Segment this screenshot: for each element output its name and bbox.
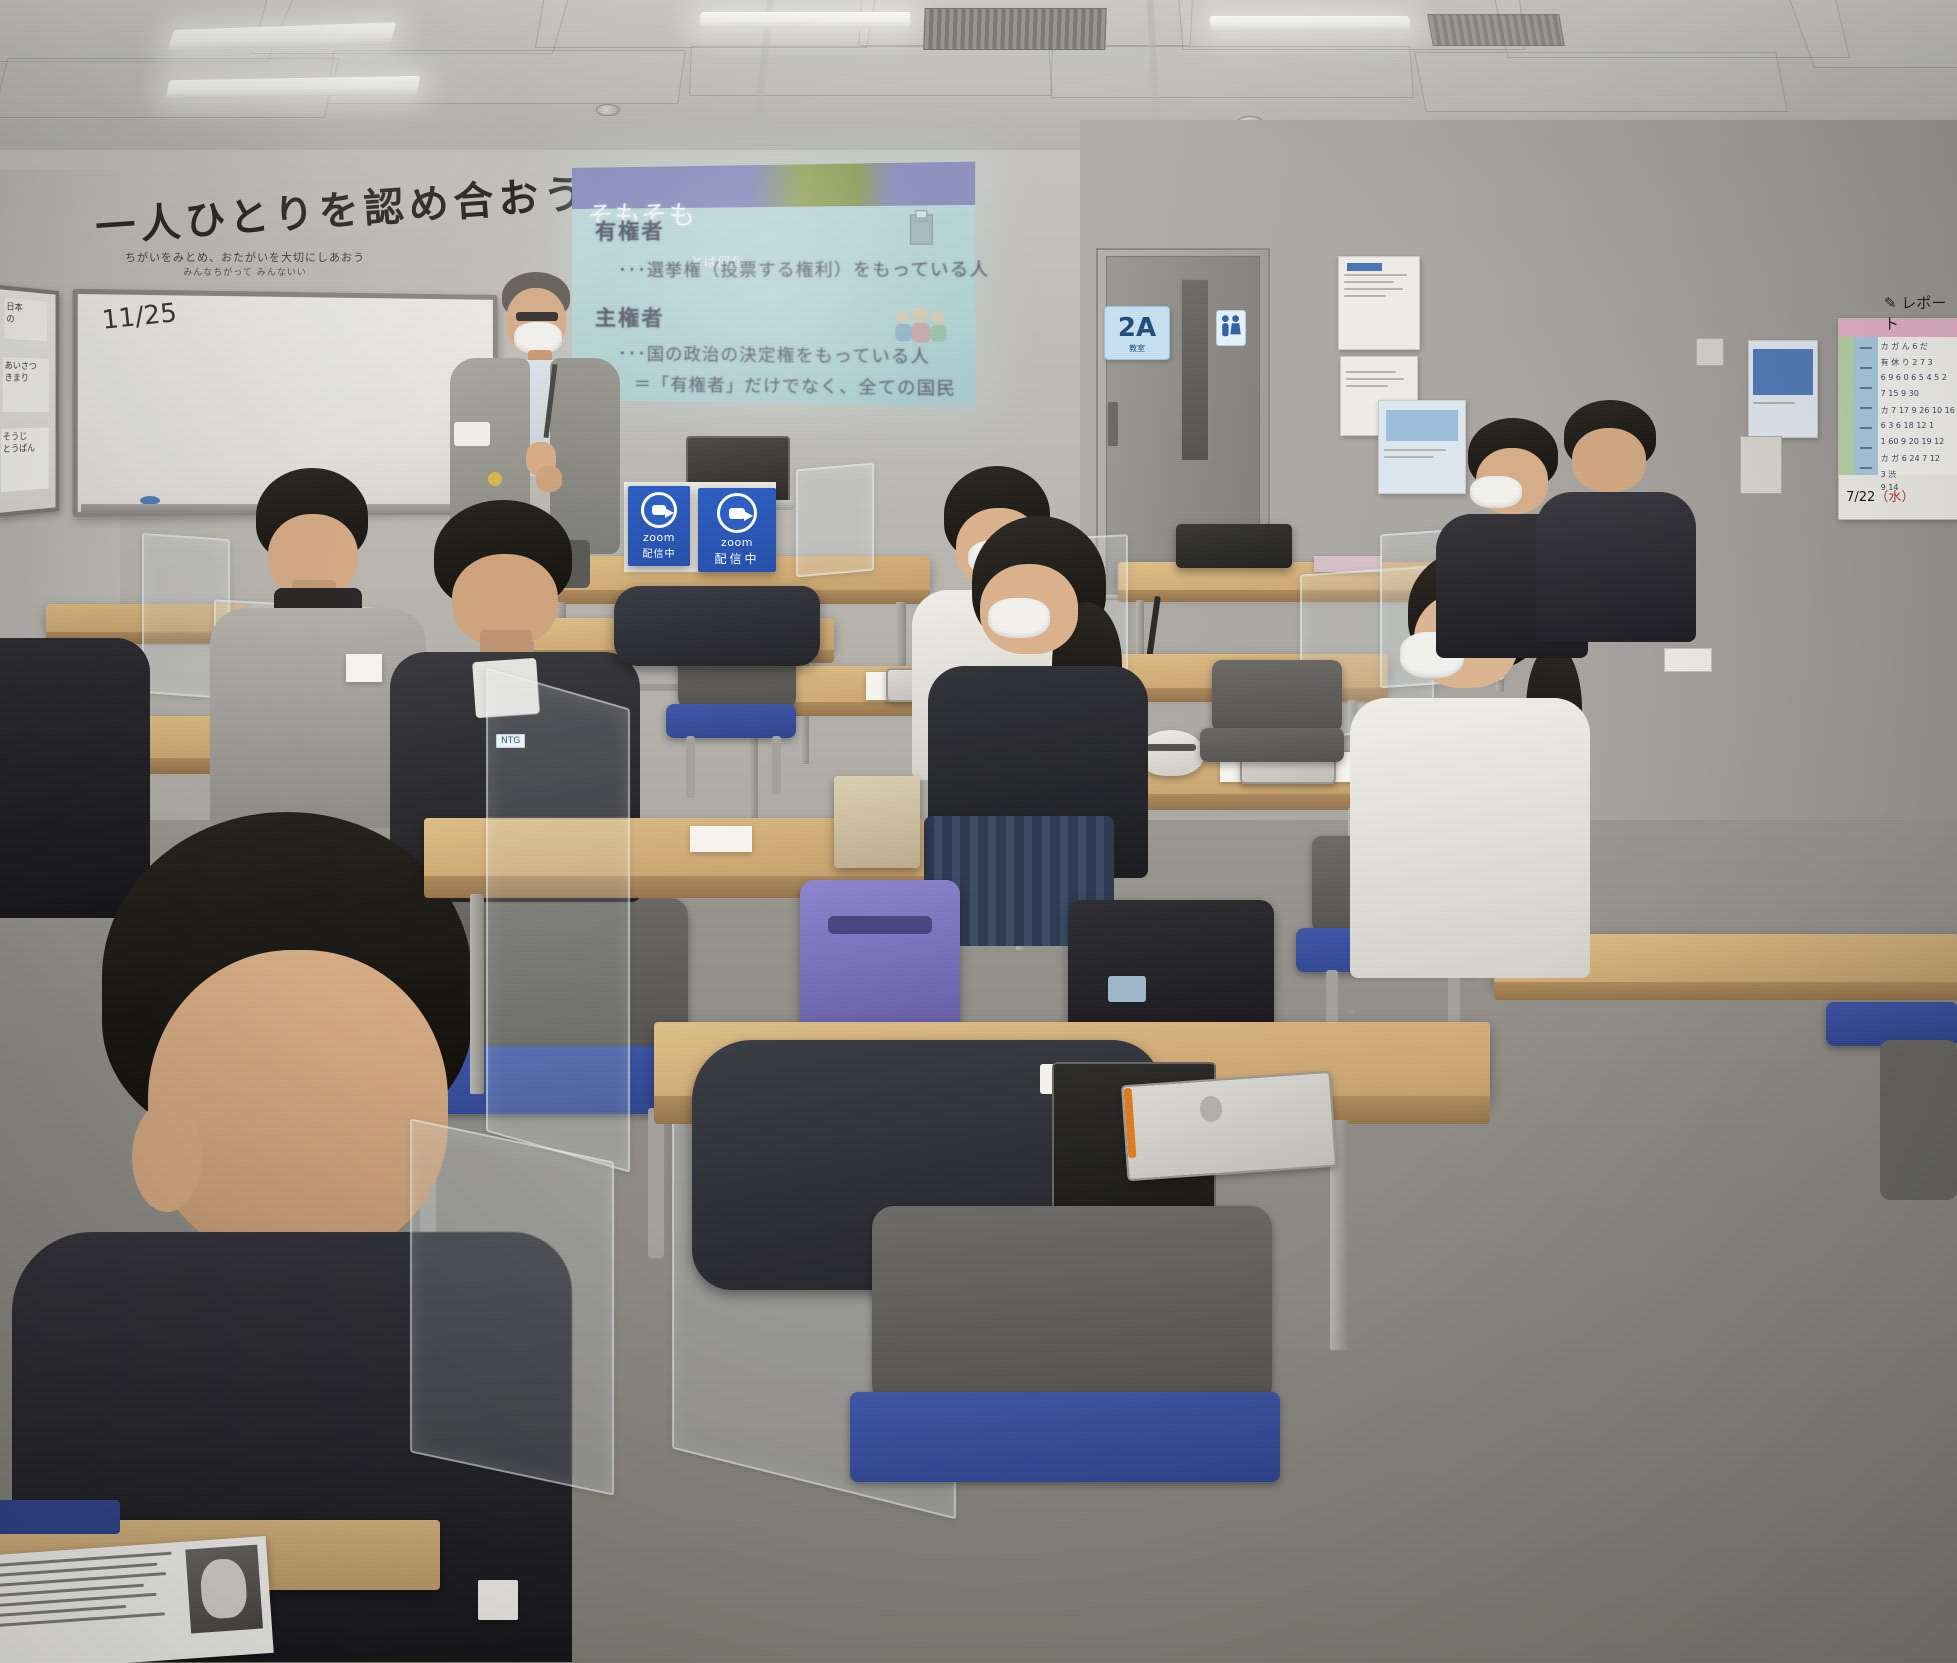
info-poster-bottom <box>1378 400 1466 494</box>
projection-screen: そもそも …とは何か 有権者 ･･･選挙権（投票する権利）をもっている人 主権者… <box>572 162 975 407</box>
chair-backrest <box>1212 660 1342 732</box>
report-poster-title: ✎ レポート <box>1884 292 1957 334</box>
chart-row: 7 15 9 30 <box>1881 389 1919 398</box>
backpack-strap <box>828 916 932 934</box>
wall-switch[interactable] <box>1696 338 1724 366</box>
side-notice-board: 日本の あいさつきまり そうじとうばん <box>0 285 59 518</box>
student-body <box>1536 492 1696 642</box>
zoom-brand-label: zoom <box>643 531 675 544</box>
slide-body-1: ･･･選挙権（投票する権利）をもっている人 <box>618 255 989 282</box>
slide-body-2: ･･･国の政治の決定権をもっている人 <box>618 339 930 368</box>
partition-label: NTG <box>496 734 525 748</box>
ceiling-light <box>1209 16 1411 31</box>
ceiling-vent <box>1427 14 1565 46</box>
report-chart-poster: カ ガ ん 6 だ 有 休 り 2 7 3 6 9 6 0 6 5 4 5 2 … <box>1838 318 1957 520</box>
chair-seat <box>0 1500 120 1534</box>
chart-row: 1 60 9 20 19 12 <box>1881 437 1945 446</box>
zoom-sign-right: zoom 配信中 <box>698 488 776 572</box>
door-window <box>1180 278 1210 462</box>
group-of-people-icon <box>891 305 950 347</box>
student-mask <box>1470 476 1522 508</box>
zoom-status-label: 配信中 <box>643 545 676 560</box>
student-mask <box>988 598 1050 638</box>
chair-seat <box>850 1392 1280 1482</box>
chart-row: カ 7 17 9 26 10 16 0 <box>1881 405 1957 416</box>
banner-main-text: 一人ひとりを認め合おう <box>93 175 396 254</box>
ceiling-light <box>699 12 910 28</box>
door-handle[interactable] <box>1108 402 1118 446</box>
chair-backrest <box>1880 1040 1957 1200</box>
folded-black-coat <box>614 586 820 666</box>
chart-row: 3 渋 <box>1881 469 1897 480</box>
slide-body: 有権者 ･･･選挙権（投票する権利）をもっている人 主権者 ･･･国の政治の決定… <box>572 204 975 406</box>
ceiling-speaker <box>596 104 620 116</box>
chart-row: 6 3 6 18 12 1 <box>1881 421 1934 430</box>
chart-row: カ ガ ん 6 だ <box>1881 341 1928 352</box>
chart-row: 有 休 り 2 7 3 <box>1881 357 1933 368</box>
acrylic-partition <box>796 463 874 578</box>
room-sign-number: 2A <box>1118 313 1156 343</box>
slide-body-3: ＝「有権者」だけでなく、全ての国民 <box>634 370 956 400</box>
room-sign-2a: 2A 教室 <box>1104 306 1170 360</box>
classroom-photo: 一人ひとりを認め合おう ちがいをみとめ、おたがいを大切にしあおう みんなちがって… <box>0 0 1957 1663</box>
chair-seat <box>666 704 796 738</box>
slide-heading-2: 主権者 <box>595 302 665 333</box>
ballot-box-icon <box>908 209 936 247</box>
student-head <box>148 950 448 1260</box>
presenter-armband <box>454 422 490 446</box>
chart-row: カ ガ 6 24 7 12 <box>1881 453 1940 464</box>
paper-on-desk <box>690 826 752 852</box>
student-body <box>1350 698 1590 978</box>
slide-heading-1: 有権者 <box>595 215 665 246</box>
chair-seat <box>1200 728 1344 762</box>
presenter-glasses <box>516 312 558 321</box>
info-poster-blue <box>1338 256 1420 350</box>
handout-photo <box>185 1545 263 1634</box>
student-ear <box>132 1102 202 1212</box>
student-head <box>1572 428 1646 492</box>
tablet-device[interactable] <box>1121 1071 1337 1181</box>
chart-date-weekday: （水） <box>1875 490 1914 505</box>
banner-sub-2: みんなちがって みんないい <box>95 265 395 278</box>
zoom-status-label: 配信中 <box>714 550 759 567</box>
wall-banner: 一人ひとりを認め合おう ちがいをみとめ、おたがいを大切にしあおう みんなちがって… <box>95 185 395 278</box>
backpack-tag <box>1108 976 1146 1002</box>
paper-bag <box>834 776 920 868</box>
chart-date: 7/22（水） <box>1846 486 1914 505</box>
acrylic-partition <box>410 1118 614 1495</box>
wall-label <box>1664 648 1712 672</box>
name-tag <box>346 654 382 682</box>
projector-unit <box>1176 524 1292 568</box>
chart-date-value: 7/22 <box>1846 490 1875 505</box>
chart-row: 6 9 6 0 6 5 4 5 2 <box>1881 373 1947 382</box>
chair-backrest <box>872 1206 1272 1406</box>
student-body <box>0 638 150 918</box>
restroom-sign-icon <box>1216 310 1246 346</box>
room-sign-sub: 教室 <box>1129 343 1145 354</box>
banner-sub-1: ちがいをみとめ、おたがいを大切にしあおう <box>95 249 395 265</box>
zoom-sign-left: zoom 配信中 <box>628 486 690 566</box>
wall-panel <box>1740 436 1782 494</box>
presenter-hand <box>536 466 562 492</box>
zoom-brand-label: zoom <box>721 536 753 549</box>
pencil-icon: ✎ <box>1884 294 1897 312</box>
info-poster-far-right <box>1748 340 1818 438</box>
whiteboard-eraser <box>478 1580 518 1620</box>
presenter-badge <box>488 472 502 486</box>
handout-sheet <box>0 1536 274 1663</box>
ceiling-vent <box>923 8 1106 50</box>
